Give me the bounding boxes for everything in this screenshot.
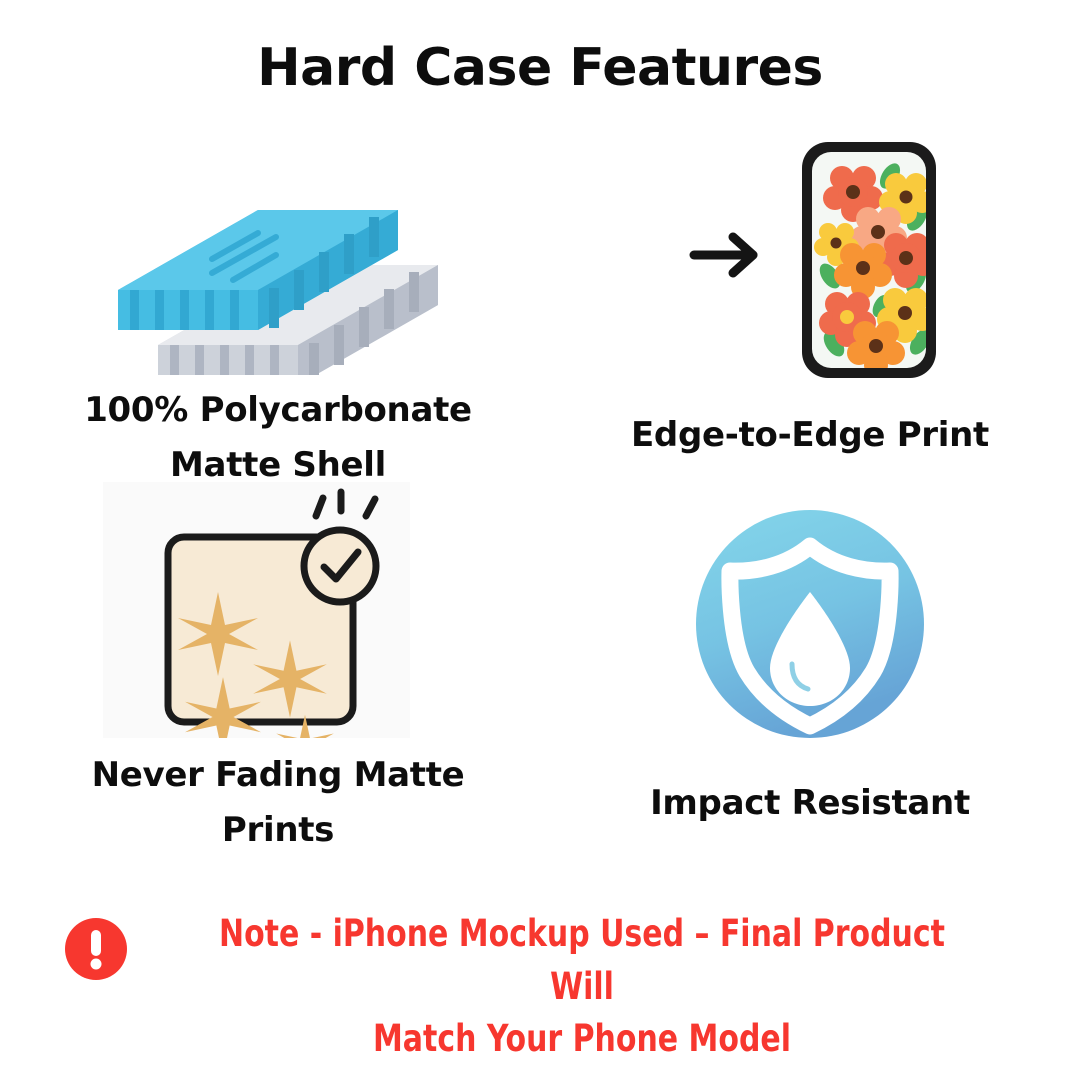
feature-label-edge-to-edge: Edge-to-Edge Print [560,408,1060,463]
note-text-line1: Note - iPhone Mockup Used – Final Produc… [191,908,974,1013]
feature-label-line2: Prints [28,803,528,858]
exclamation-circle-icon [63,916,129,987]
arrow-right-icon [694,237,753,273]
feature-label-polycarbonate: 100% Polycarbonate Matte Shell [28,383,528,493]
feature-label-never-fading: Never Fading Matte Prints [28,748,528,858]
badge-rays [316,492,375,516]
shield-droplet-icon [560,500,1060,748]
feature-label-line1: Edge-to-Edge Print [560,408,1060,463]
feature-label-impact-resistant: Impact Resistant [560,776,1060,831]
phone-case [802,142,936,378]
feature-label-line1: 100% Polycarbonate [28,383,528,438]
feature-label-line1: Never Fading Matte [28,748,528,803]
matte-print-check-icon [28,482,528,738]
layered-shell-icon [28,160,528,375]
feature-label-line1: Impact Resistant [560,776,1060,831]
floral-pattern [814,160,935,377]
feature-card-never-fading: Never Fading Matte Prints [28,482,528,858]
feature-card-polycarbonate: 100% Polycarbonate Matte Shell [28,160,528,493]
feature-card-edge-to-edge: Edge-to-Edge Print [560,128,1060,463]
note-text-line2: Match Your Phone Model [191,1013,974,1066]
page-title: Hard Case Features [0,38,1080,98]
note-banner: Note - iPhone Mockup Used – Final Produc… [0,908,1080,1066]
floral-phone-case-icon [560,128,1060,390]
check-badge-icon [304,492,376,602]
note-text: Note - iPhone Mockup Used – Final Produc… [191,908,974,1066]
feature-card-impact-resistant: Impact Resistant [560,500,1060,831]
